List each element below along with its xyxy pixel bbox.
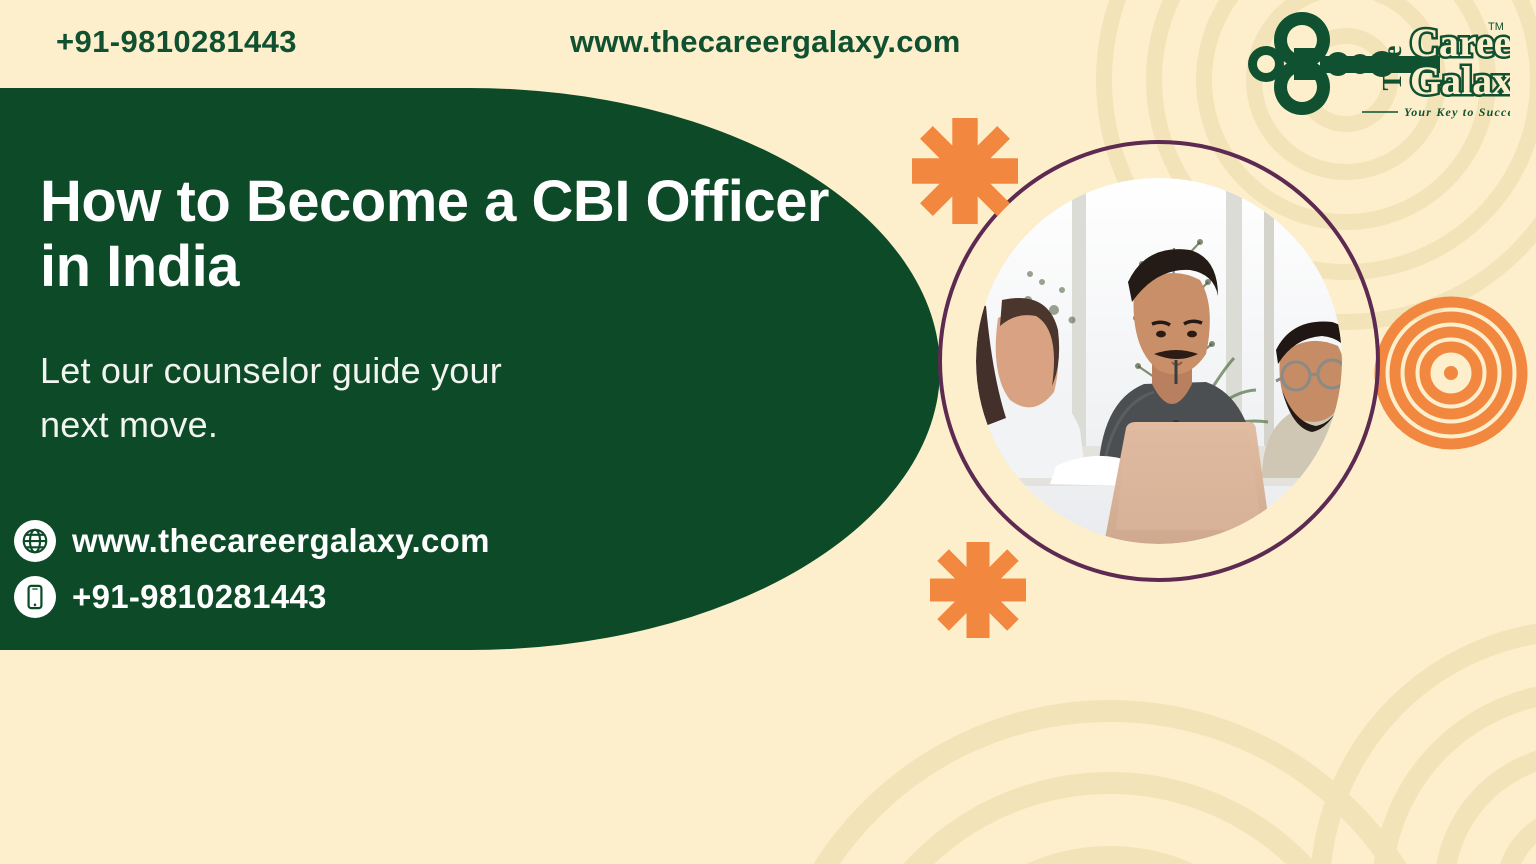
concentric-circles-icon	[1374, 292, 1528, 454]
subhead-line-2: next move.	[40, 404, 218, 445]
topbar-website-url[interactable]: www.thecareergalaxy.com	[570, 24, 961, 60]
logo-wordmark: The Career Galaxy TM Your Key to Success	[1362, 20, 1510, 119]
background-arc-pattern-bottom-center	[760, 700, 1480, 864]
contact-list: www.thecareergalaxy.com +91-9810281443	[14, 520, 490, 632]
contact-website-row[interactable]: www.thecareergalaxy.com	[14, 520, 490, 562]
starburst-icon-bottom	[930, 542, 1026, 638]
topbar-phone-number[interactable]: +91-9810281443	[56, 24, 297, 60]
page-title: How to Become a CBI Officer in India	[40, 170, 920, 300]
headline-line-1: How to Become a CBI Officer	[40, 169, 829, 234]
svg-text:Galaxy: Galaxy	[1410, 58, 1510, 103]
starburst-icon-top	[912, 118, 1018, 224]
hero-subtitle: Let our counselor guide your next move.	[40, 344, 920, 452]
contact-phone-row[interactable]: +91-9810281443	[14, 576, 490, 618]
contact-phone-label: +91-9810281443	[72, 578, 327, 616]
svg-text:TM: TM	[1488, 21, 1504, 33]
photo-image	[976, 178, 1342, 544]
background-arc-pattern-bottom-right	[1310, 620, 1536, 864]
mobile-phone-icon	[14, 576, 56, 618]
contact-website-label: www.thecareergalaxy.com	[72, 522, 490, 560]
poster-canvas: +91-9810281443 www.thecareergalaxy.com	[0, 0, 1536, 864]
svg-text:Your Key to Success: Your Key to Success	[1404, 105, 1510, 119]
headline-line-2: in India	[40, 234, 239, 299]
subhead-line-1: Let our counselor guide your	[40, 350, 502, 391]
brand-logo[interactable]: The Career Galaxy TM Your Key to Success	[1242, 8, 1510, 130]
svg-text:The: The	[1377, 45, 1407, 90]
hero-copy: How to Become a CBI Officer in India Let…	[40, 170, 920, 452]
globe-icon	[14, 520, 56, 562]
